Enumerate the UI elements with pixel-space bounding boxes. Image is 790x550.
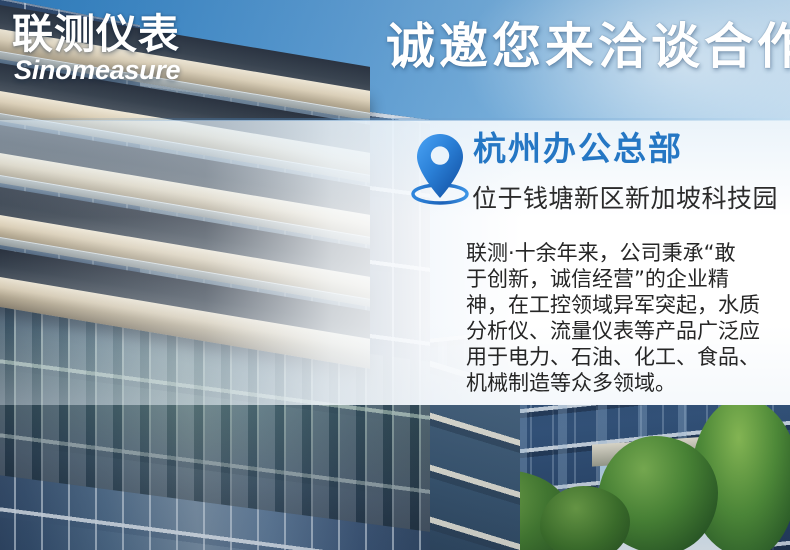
banner-headline: 诚邀您来洽谈合作 bbox=[386, 22, 790, 71]
description-line: 神，在工控领域异军突起，水质 bbox=[466, 292, 784, 318]
info-panel-divider bbox=[0, 118, 790, 121]
description-line: 用于电力、石油、化工、食品、 bbox=[466, 344, 784, 370]
office-subtitle: 位于钱塘新区新加坡科技园 bbox=[472, 186, 778, 211]
location-pin-icon bbox=[408, 128, 472, 210]
brand-name-en: Sinomeasure bbox=[14, 57, 180, 84]
description-line: 联测·十余年来，公司秉承“敢 bbox=[466, 240, 784, 266]
brand-name-cn: 联测仪表 bbox=[12, 14, 180, 55]
description-line: 分析仪、流量仪表等产品广泛应 bbox=[466, 318, 784, 344]
office-title: 杭州办公总部 bbox=[473, 132, 683, 165]
location-pin-svg bbox=[408, 128, 472, 210]
brand-logo[interactable]: 联测仪表 Sinomeasure bbox=[12, 14, 180, 84]
description-line: 机械制造等众多领域。 bbox=[466, 370, 784, 396]
company-office-banner: 联测仪表 Sinomeasure 诚邀您来洽谈合作 bbox=[0, 0, 790, 550]
company-description: 联测·十余年来，公司秉承“敢 于创新，诚信经营”的企业精 神，在工控领域异军突起… bbox=[466, 240, 784, 396]
description-line: 于创新，诚信经营”的企业精 bbox=[466, 266, 784, 292]
